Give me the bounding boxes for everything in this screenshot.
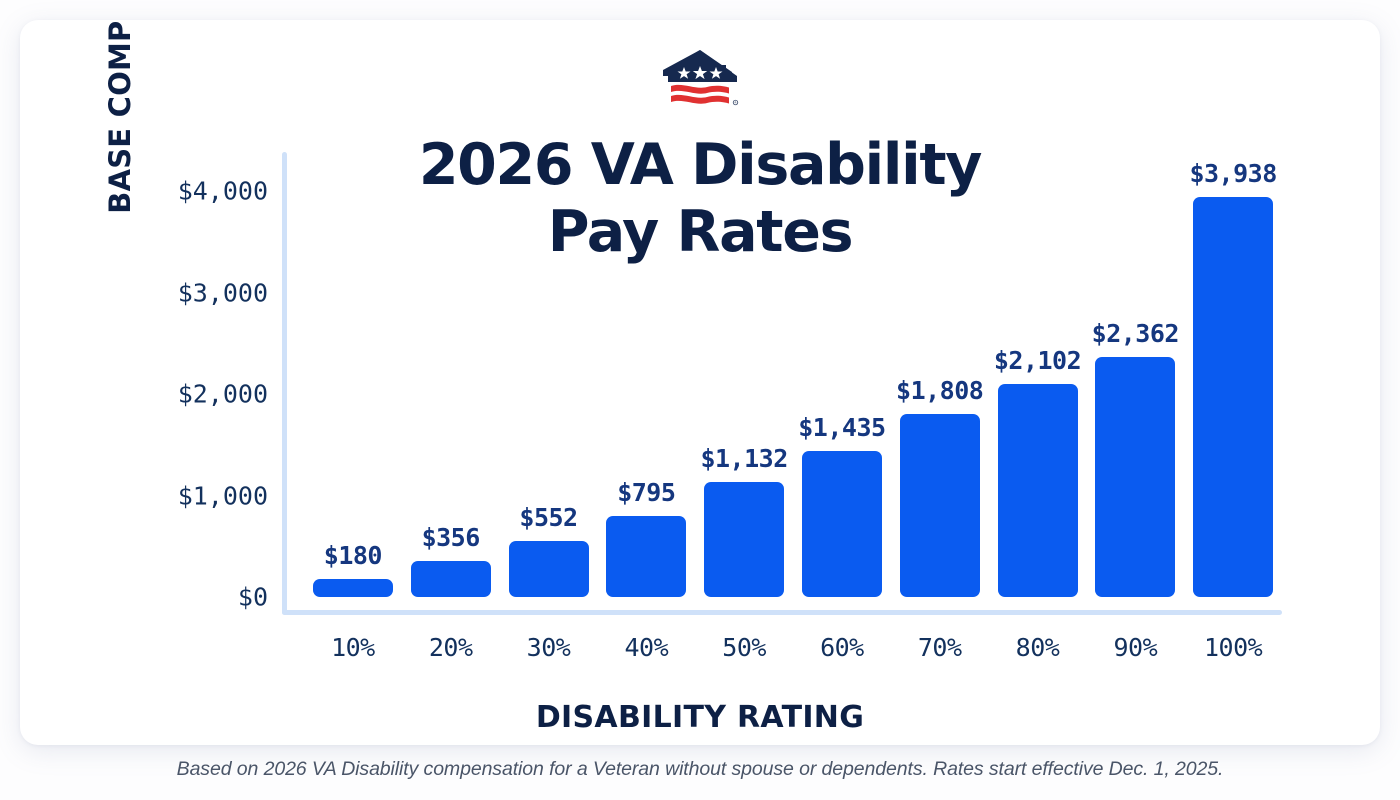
bar[interactable]: $552 xyxy=(509,541,589,597)
bar-value-label: $356 xyxy=(422,523,480,552)
va-house-flag-logo-icon: R xyxy=(657,48,743,106)
chart-page: R 2026 VA Disability Pay Rates BASE COMP… xyxy=(0,0,1400,800)
bar-value-label: $2,102 xyxy=(994,346,1081,375)
bar[interactable]: $795 xyxy=(606,516,686,597)
bar-value-label: $3,938 xyxy=(1189,159,1276,188)
bar-value-label: $180 xyxy=(324,541,382,570)
bar[interactable]: $180 xyxy=(313,579,393,597)
bar[interactable]: $2,362 xyxy=(1095,357,1175,597)
x-axis-title: DISABILITY RATING xyxy=(20,700,1380,735)
bar-series: $180$356$552$795$1,132$1,435$1,808$2,102… xyxy=(282,152,1282,615)
bar-value-label: $795 xyxy=(617,478,675,507)
y-tick-label: $0 xyxy=(138,583,268,612)
bar[interactable]: $2,102 xyxy=(998,384,1078,597)
bar[interactable]: $1,435 xyxy=(802,451,882,597)
footnote: Based on 2026 VA Disability compensation… xyxy=(0,758,1400,781)
plot-area: $180$356$552$795$1,132$1,435$1,808$2,102… xyxy=(282,152,1282,615)
y-axis-title: BASE COMPENSATION xyxy=(98,20,142,234)
bar[interactable]: $356 xyxy=(411,561,491,597)
bar[interactable]: $3,938 xyxy=(1193,197,1273,597)
bar-value-label: $1,435 xyxy=(798,413,885,442)
bar[interactable]: $1,132 xyxy=(704,482,784,597)
y-tick-label: $4,000 xyxy=(138,177,268,206)
bar[interactable]: $1,808 xyxy=(900,414,980,598)
y-tick-label: $1,000 xyxy=(138,481,268,510)
svg-text:R: R xyxy=(734,101,736,105)
bar-value-label: $2,362 xyxy=(1092,319,1179,348)
y-tick-label: $2,000 xyxy=(138,380,268,409)
chart-card: R 2026 VA Disability Pay Rates BASE COMP… xyxy=(20,20,1380,745)
bar-value-label: $1,808 xyxy=(896,376,983,405)
bar-value-label: $1,132 xyxy=(700,444,787,473)
y-tick-label: $3,000 xyxy=(138,278,268,307)
bar-value-label: $552 xyxy=(519,503,577,532)
x-tick-label: 100% xyxy=(1173,633,1293,662)
